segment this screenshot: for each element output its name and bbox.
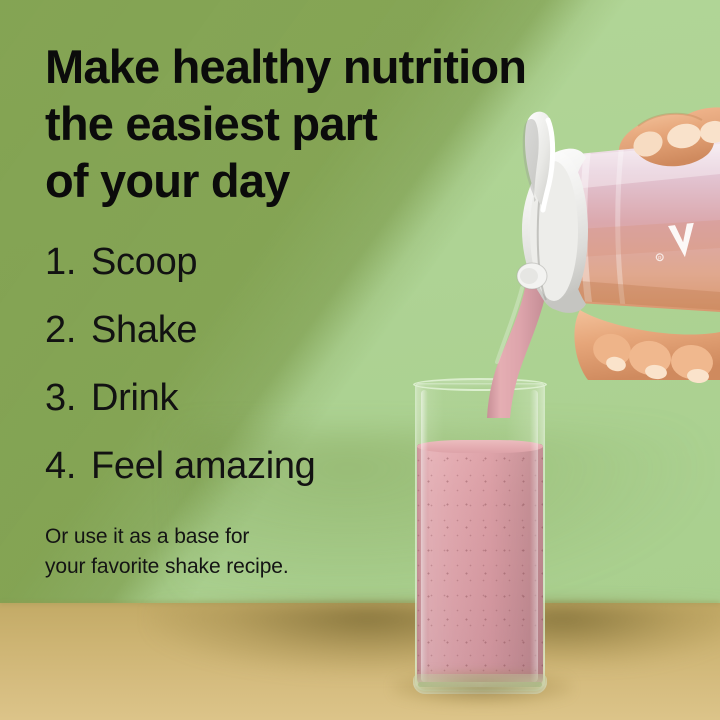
table-shadow-left — [150, 604, 440, 674]
step-label: Feel amazing — [91, 444, 316, 488]
list-item: 1. Scoop — [45, 240, 525, 308]
smoothie-glass — [410, 378, 550, 696]
smoothie-speckles — [417, 444, 543, 687]
glass-contact-shadow — [392, 672, 572, 706]
glass-highlight-right — [530, 390, 538, 682]
shaker-bottle-in-hand: R — [470, 100, 720, 380]
hand-bottom-fingers — [574, 310, 720, 384]
step-label: Shake — [91, 308, 197, 352]
step-number: 2. — [45, 308, 91, 352]
glass-highlight-left — [421, 390, 428, 682]
product-graphic: Make healthy nutrition the easiest part … — [0, 0, 720, 720]
table-shadow-right — [520, 604, 720, 666]
smoothie-surface — [417, 440, 543, 453]
subnote-text: Or use it as a base for your favorite sh… — [45, 522, 405, 582]
step-number: 3. — [45, 376, 91, 420]
step-number: 4. — [45, 444, 91, 488]
step-number: 1. — [45, 240, 91, 284]
step-label: Drink — [91, 376, 178, 420]
step-label: Scoop — [91, 240, 197, 284]
list-item: 2. Shake — [45, 308, 525, 376]
